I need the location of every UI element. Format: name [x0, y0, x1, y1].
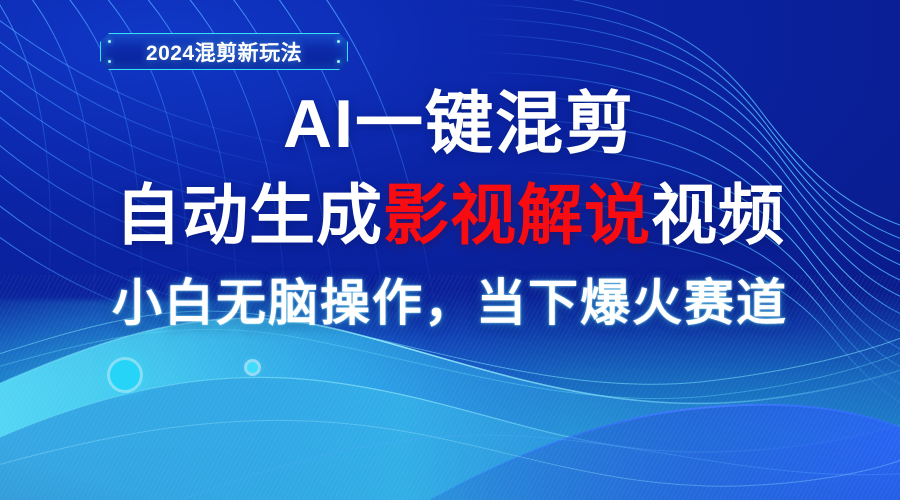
promo-banner: 2024混剪新玩法 AI一键混剪 自动生成 影视解说 视频 小白无脑操作，当下爆…: [0, 0, 900, 500]
headline-line-2-highlight: 影视解说: [383, 182, 651, 248]
badge-label: 2024混剪新玩法: [100, 33, 348, 70]
cyan-circle-large-decoration: [110, 360, 140, 390]
headline-block: AI一键混剪 自动生成 影视解说 视频 小白无脑操作，当下爆火赛道: [0, 90, 900, 328]
headline-line-2-suffix: 视频: [651, 182, 785, 248]
blue-glow: [0, 310, 558, 500]
cyan-circle-small-decoration: [247, 362, 258, 373]
headline-line-3: 小白无脑操作，当下爆火赛道: [0, 278, 900, 328]
headline-line-1: AI一键混剪: [0, 90, 900, 158]
headline-line-2-prefix: 自动生成: [115, 182, 383, 248]
year-tagline-badge: 2024混剪新玩法: [100, 33, 348, 70]
headline-line-2: 自动生成 影视解说 视频: [0, 182, 900, 248]
